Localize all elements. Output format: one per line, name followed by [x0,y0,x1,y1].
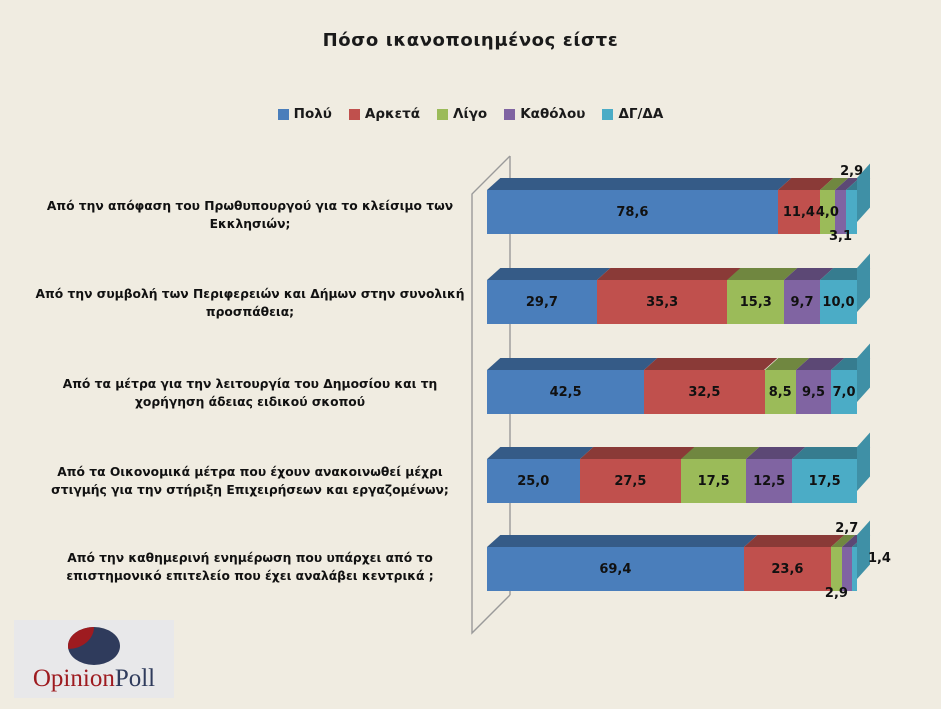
bar-segment-2[interactable]: 15,3 [727,280,784,324]
bar-segment-3[interactable]: 12,5 [746,459,792,503]
bar-value-label: 27,5 [614,474,646,489]
bar-body: 42,532,58,59,57,0 [487,370,857,414]
bar-row[interactable]: 78,611,44,03,12,9 [487,178,870,234]
bar-depth-face [857,433,870,491]
bar-segment-1[interactable]: 27,5 [580,459,682,503]
bar-value-label: 11,4 [783,205,815,220]
bar-value-label: 4,0 [816,205,839,220]
bar-value-label: 78,6 [616,205,648,220]
bar-body: 25,027,517,512,517,5 [487,459,857,503]
bar-value-label: 7,0 [833,385,856,400]
bar-segment-0[interactable]: 29,7 [487,280,597,324]
bar-segment-1[interactable]: 32,5 [644,370,764,414]
bar-depth-cap [857,268,870,324]
bar-value-label: 2,9 [825,586,848,601]
bar-segment-0[interactable]: 25,0 [487,459,580,503]
bar-depth-face [857,254,870,312]
logo-text-poll: Poll [115,665,155,692]
pie-chart-icon [68,627,120,665]
bar-value-label: 12,5 [753,474,785,489]
bar-segment-0[interactable]: 42,5 [487,370,644,414]
bar-depth-cap [857,178,870,234]
bar-value-label: 17,5 [809,474,841,489]
bar-row[interactable]: 25,027,517,512,517,5 [487,447,870,503]
bar-segment-4[interactable]: 17,5 [792,459,857,503]
bar-body: 29,735,315,39,710,0 [487,280,857,324]
bar-segment-1[interactable]: 11,4 [778,190,820,234]
bar-value-label: 8,5 [769,385,792,400]
bar-depth-cap [857,447,870,503]
bar-row[interactable]: 69,423,62,92,71,4 [487,535,870,591]
bar-depth-face [857,521,870,579]
bar-segment-3[interactable]: 2,7 [842,547,852,591]
bar-segment-3[interactable]: 9,5 [796,370,831,414]
bar-segment-4[interactable]: 7,0 [831,370,857,414]
bar-value-label: 32,5 [688,385,720,400]
bar-value-label: 17,5 [698,474,730,489]
bar-series-container: 78,611,44,03,12,929,735,315,39,710,042,5… [0,0,941,709]
bar-value-label: 15,3 [740,295,772,310]
bar-segment-1[interactable]: 35,3 [597,280,728,324]
bar-value-label: 35,3 [646,295,678,310]
bar-value-label: 9,5 [802,385,825,400]
bar-segment-4[interactable]: 2,9 [846,190,857,234]
bar-segment-2[interactable]: 4,0 [820,190,835,234]
bar-segment-2[interactable]: 17,5 [681,459,746,503]
logo-text-opinion: Opinion [33,665,115,692]
bar-value-label: 42,5 [550,385,582,400]
bar-value-label: 2,7 [835,521,858,536]
bar-value-label: 25,0 [517,474,549,489]
bar-row[interactable]: 42,532,58,59,57,0 [487,358,870,414]
bar-depth-face [857,344,870,402]
bar-value-label: 3,1 [829,229,852,244]
bar-row[interactable]: 29,735,315,39,710,0 [487,268,870,324]
bar-value-label: 9,7 [791,295,814,310]
bar-value-label: 10,0 [822,295,854,310]
bar-body: 69,423,62,92,71,4 [487,547,857,591]
opinionpoll-logo: OpinionPoll [14,620,174,698]
bar-segment-1[interactable]: 23,6 [744,547,831,591]
bar-value-label: 1,4 [868,551,891,566]
bar-depth-cap [857,358,870,414]
bar-body: 78,611,44,03,12,9 [487,190,857,234]
bar-segment-3[interactable]: 9,7 [784,280,820,324]
bar-segment-2[interactable]: 8,5 [765,370,796,414]
bar-segment-0[interactable]: 69,4 [487,547,744,591]
bar-segment-0[interactable]: 78,6 [487,190,778,234]
logo-text: OpinionPoll [33,666,155,691]
bar-segment-4[interactable]: 10,0 [820,280,857,324]
plot-area: Από την απόφαση του Πρωθυπουργού για το … [0,0,941,709]
bar-value-label: 23,6 [771,562,803,577]
bar-value-label: 29,7 [526,295,558,310]
bar-segment-2[interactable]: 2,9 [831,547,842,591]
bar-value-label: 2,9 [840,164,863,179]
bar-value-label: 69,4 [599,562,631,577]
